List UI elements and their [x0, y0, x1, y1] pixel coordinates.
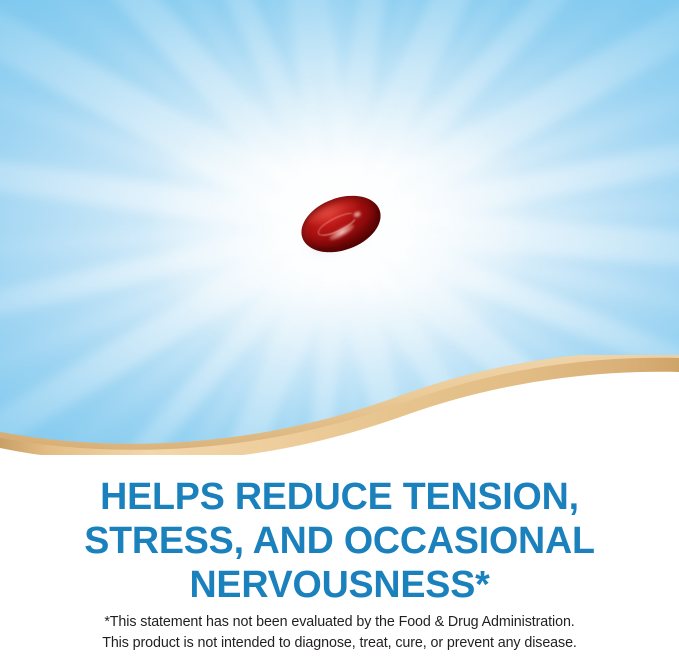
product-marketing-image: HELPS REDUCE TENSION, STRESS, AND OCCASI… — [0, 0, 679, 657]
disclaimer-line-1: *This statement has not been evaluated b… — [0, 612, 679, 633]
disclaimer-line-2: This product is not intended to diagnose… — [0, 633, 679, 654]
disclaimer: *This statement has not been evaluated b… — [0, 612, 679, 654]
headline-line-1: HELPS REDUCE TENSION, — [3, 475, 675, 519]
headline-line-3: NERVOUSNESS* — [3, 563, 675, 607]
gold-wave-divider — [0, 355, 679, 465]
red-softgel-capsule — [298, 195, 384, 253]
headline: HELPS REDUCE TENSION, STRESS, AND OCCASI… — [3, 475, 675, 607]
headline-line-2: STRESS, AND OCCASIONAL — [3, 519, 675, 563]
message-panel: HELPS REDUCE TENSION, STRESS, AND OCCASI… — [0, 455, 679, 657]
